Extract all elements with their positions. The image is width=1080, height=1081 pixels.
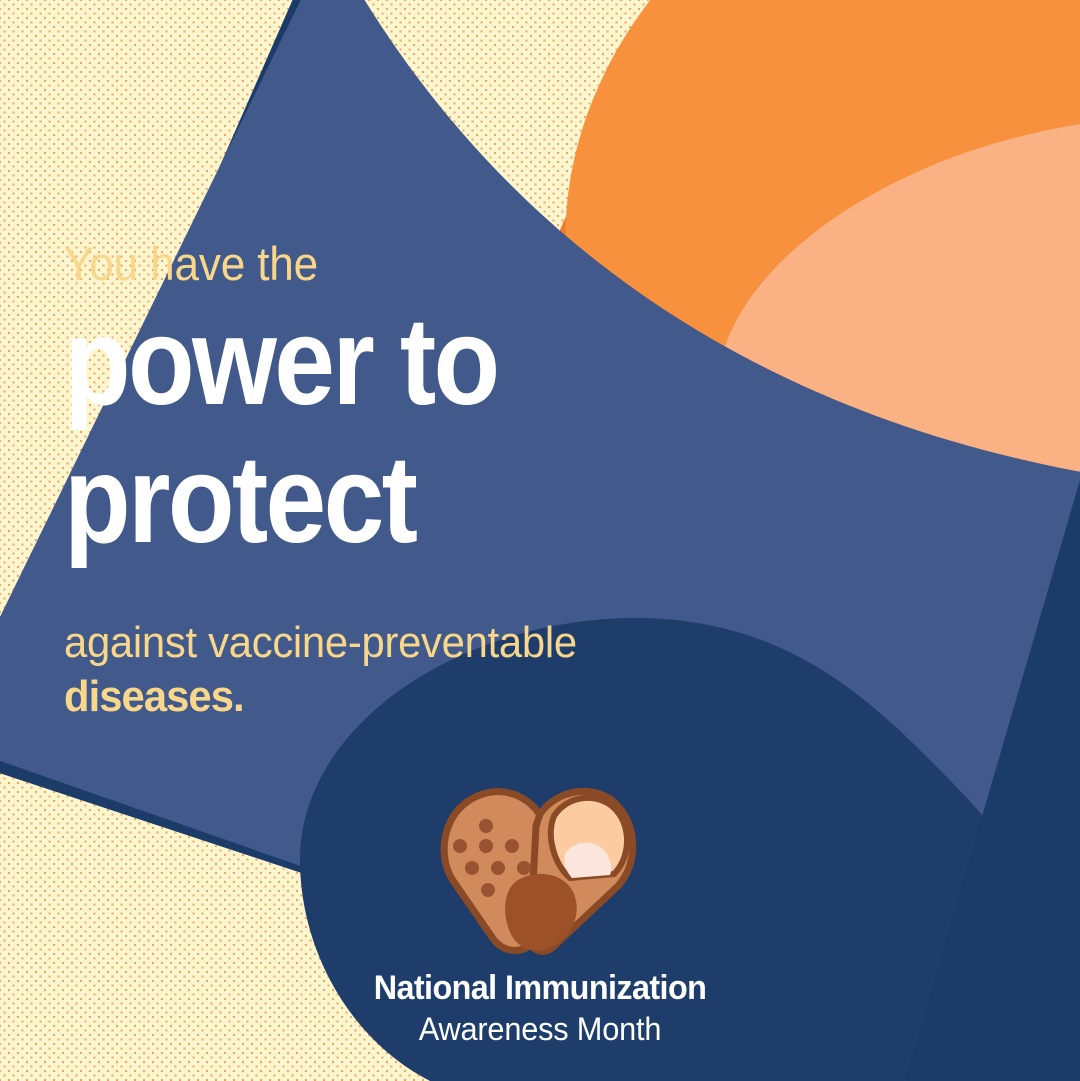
lockup-title: National Immunization <box>27 968 1053 1008</box>
subheadline-line-1: against vaccine-preventable <box>64 616 786 670</box>
headline-eyebrow: You have the <box>64 236 722 292</box>
headline-line-2: protect <box>64 436 680 564</box>
lockup-subtitle: Awareness Month <box>22 1010 1059 1048</box>
logo-lockup: National Immunization Awareness Month <box>0 782 1080 1048</box>
heart-bandage-icon <box>432 782 648 958</box>
subheadline-block: against vaccine-preventable diseases. <box>64 616 824 724</box>
poster-canvas: You have the power to protect against va… <box>0 0 1080 1081</box>
headline-line-1: power to <box>64 298 680 426</box>
headline-block: You have the power to protect <box>64 236 764 564</box>
subheadline-line-2: diseases. <box>64 670 786 724</box>
